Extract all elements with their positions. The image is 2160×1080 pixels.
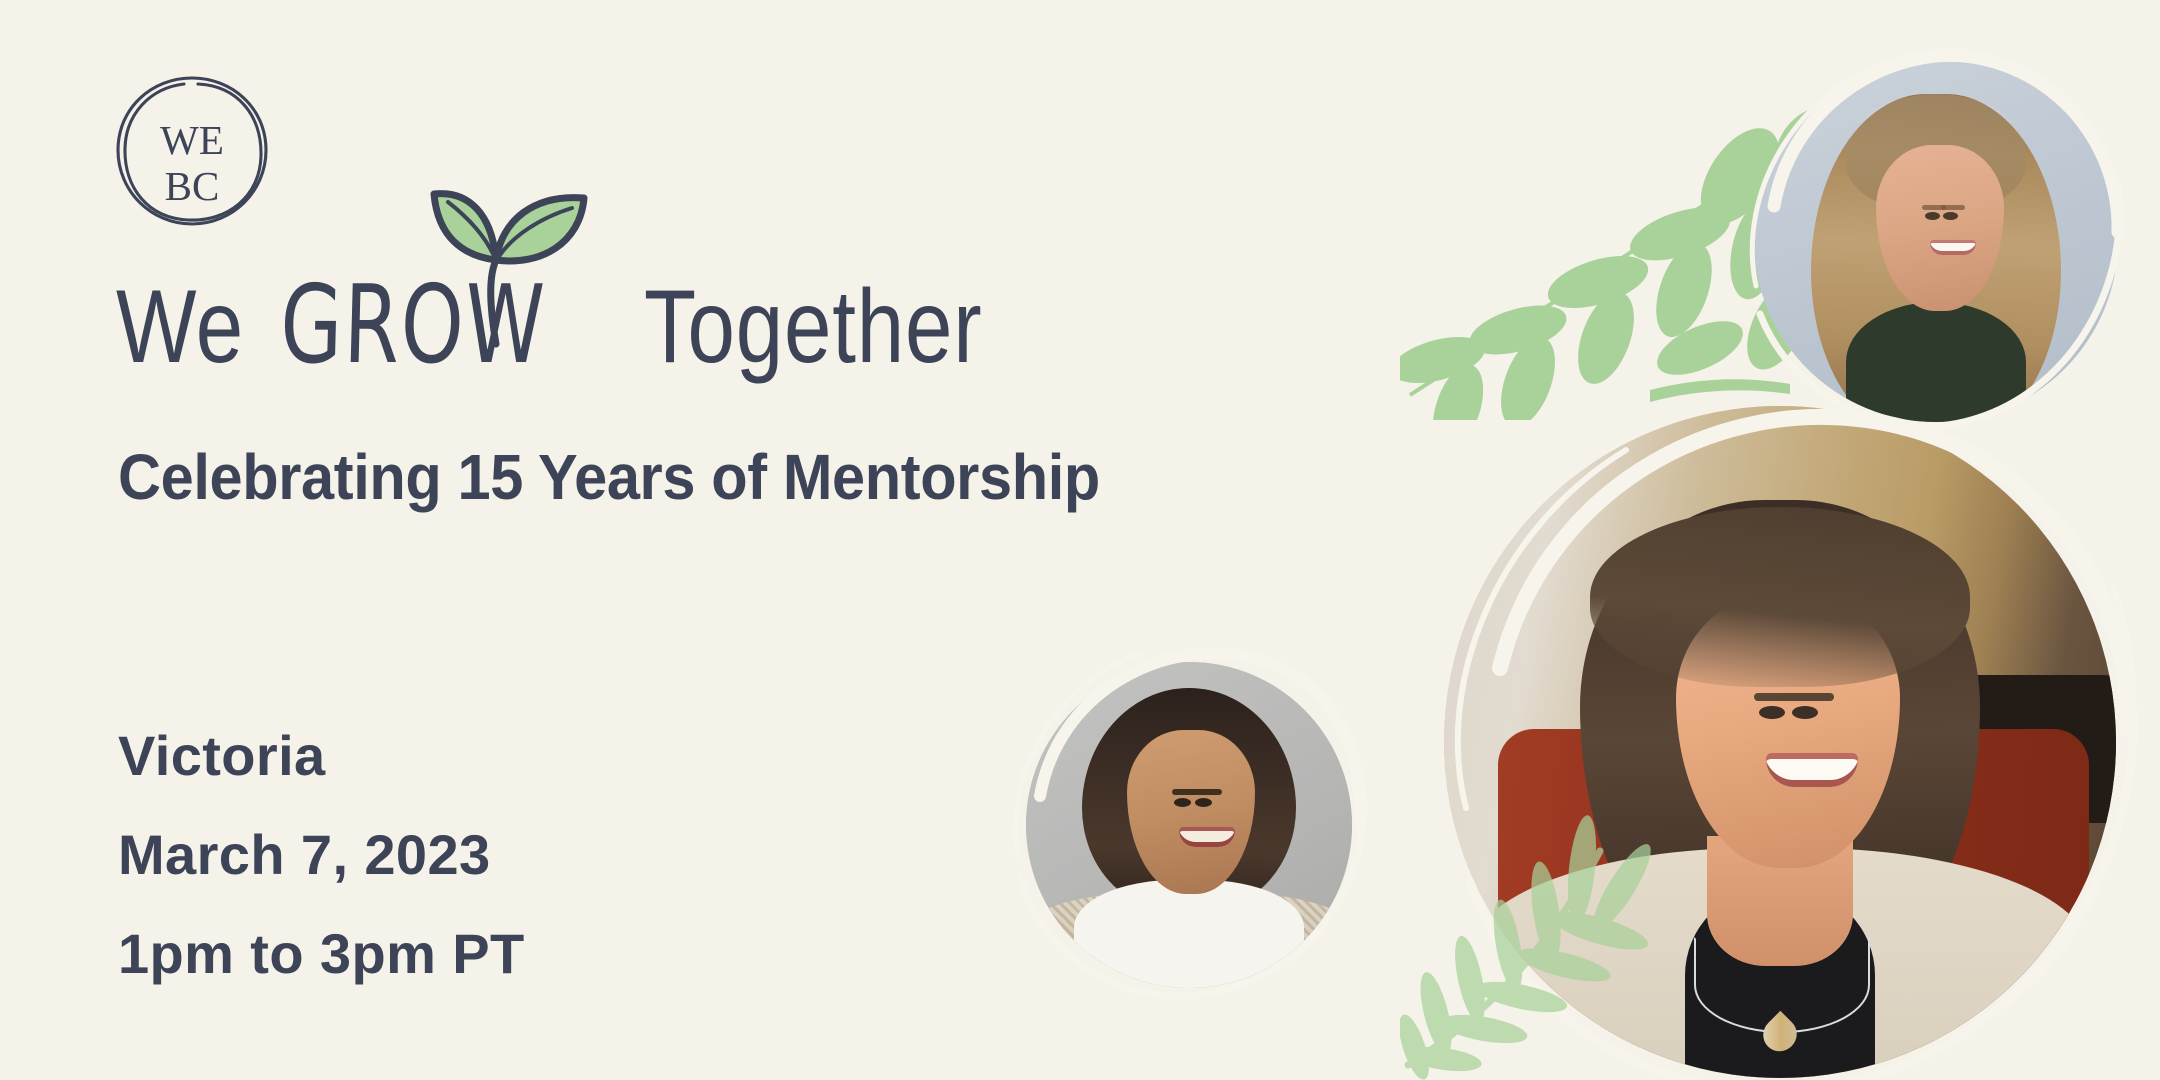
portrait-eye-right <box>1792 706 1818 719</box>
headline-word-we: We <box>116 275 244 379</box>
event-location: Victoria <box>118 728 525 784</box>
webc-logo: WE BC <box>112 72 272 232</box>
portrait-top-right <box>1754 58 2118 422</box>
portrait-brow-right <box>1790 693 1834 701</box>
portrait-eye-right <box>1195 798 1212 807</box>
logo-line-1: WE <box>160 117 224 163</box>
event-banner: WE BC We GROW Together Celebrating 15 Ye… <box>0 0 2160 1080</box>
event-details: Victoria March 7, 2023 1pm to 3pm PT <box>118 728 525 982</box>
portrait-collar <box>1074 880 1304 988</box>
portrait-eye-left <box>1925 212 1940 220</box>
portrait-brow-right <box>1941 205 1965 210</box>
portrait-smile <box>1766 753 1858 787</box>
portrait-smile <box>1930 240 1976 255</box>
logo-line-2: BC <box>165 163 220 209</box>
portrait-lower-left <box>1026 662 1352 988</box>
portrait-eye-left <box>1174 798 1191 807</box>
portrait-eye-right <box>1943 212 1958 220</box>
portrait-smile <box>1179 827 1235 847</box>
event-date: March 7, 2023 <box>118 827 525 883</box>
event-time: 1pm to 3pm PT <box>118 926 525 982</box>
portrait-center-large <box>1444 406 2116 1078</box>
portrait-brow-right <box>1194 789 1222 795</box>
page-subtitle: Celebrating 15 Years of Mentorship <box>118 440 1100 514</box>
headline-word-together: Together <box>644 275 982 379</box>
portrait-garment <box>1846 302 2026 422</box>
page-title: We GROW Together <box>116 272 1056 380</box>
headline-word-grow: GROW <box>279 272 547 380</box>
portrait-eye-left <box>1759 706 1785 719</box>
portrait-fringe <box>1590 507 1970 687</box>
